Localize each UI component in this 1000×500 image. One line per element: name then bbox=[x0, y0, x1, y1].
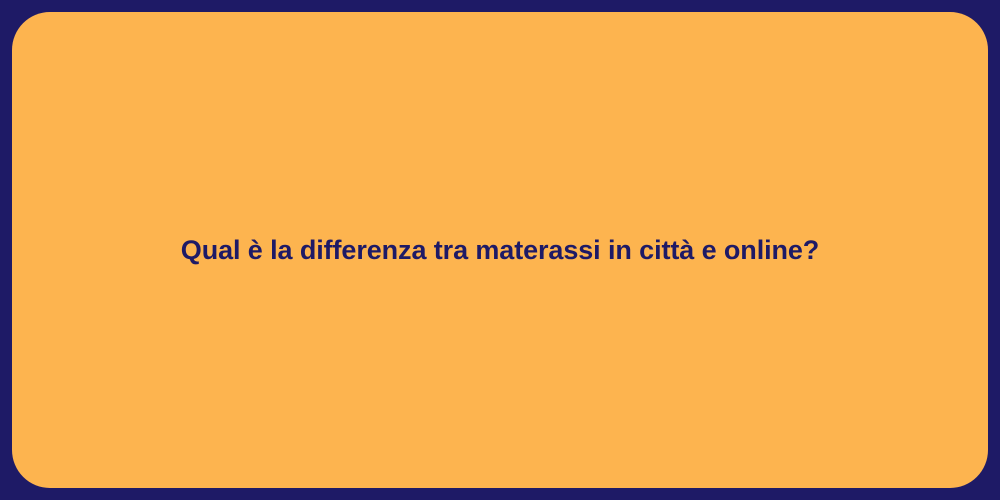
card-panel: Qual è la differenza tra materassi in ci… bbox=[12, 12, 988, 488]
card-frame: Qual è la differenza tra materassi in ci… bbox=[0, 0, 1000, 500]
page-title: Qual è la differenza tra materassi in ci… bbox=[141, 232, 859, 268]
